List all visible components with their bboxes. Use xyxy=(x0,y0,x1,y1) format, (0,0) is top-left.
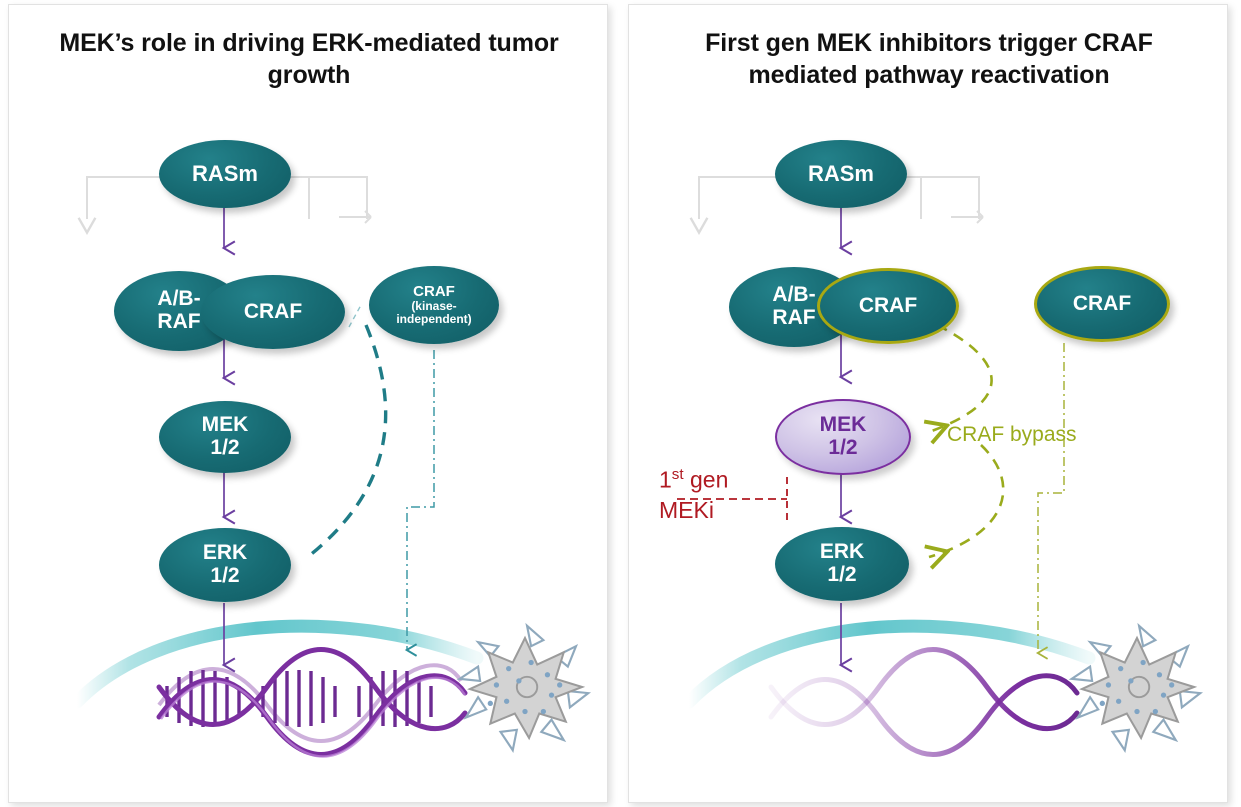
node-erk-left[interactable]: ERK 1/2 xyxy=(159,528,291,602)
dashed-curve-craf-to-erk-right xyxy=(929,445,1003,557)
nuclear-membrane-right xyxy=(689,626,1089,702)
dna-helix-right xyxy=(771,650,1077,755)
node-mek-right[interactable]: MEK 1/2 xyxy=(775,399,911,475)
node-rasm-left[interactable]: RASm xyxy=(159,140,291,208)
dashed-curve-craf-to-mek-right xyxy=(929,325,992,432)
dash-stub-left xyxy=(349,305,361,327)
dashed-curve-craf-to-erk-left xyxy=(309,325,386,556)
tumor-cell-right xyxy=(1072,626,1201,750)
nuclear-membrane-left xyxy=(77,626,477,702)
ras-bracket-left-tip xyxy=(339,211,371,223)
panel-left-canvas xyxy=(9,5,608,803)
tumor-cell-left xyxy=(460,626,589,750)
ras-bracket-right-tip xyxy=(951,211,983,223)
dashdot-craf-to-dna-left xyxy=(407,350,434,650)
dashdot-craf-to-dna-right xyxy=(1038,343,1064,653)
node-mek-left[interactable]: MEK 1/2 xyxy=(159,401,291,473)
panel-right-canvas xyxy=(629,5,1228,803)
node-craf-free-right[interactable]: CRAF xyxy=(1034,266,1170,342)
label-craf-bypass: CRAF bypass xyxy=(947,423,1077,447)
panel-right: First gen MEK inhibitors trigger CRAF me… xyxy=(628,4,1228,803)
node-erk-right[interactable]: ERK 1/2 xyxy=(775,527,909,601)
panel-left: MEK’s role in driving ERK-mediated tumor… xyxy=(8,4,608,803)
label-meki-line1: 1st gen xyxy=(659,465,728,496)
node-craf-dimer-right[interactable]: CRAF xyxy=(817,268,959,344)
figure-root: MEK’s role in driving ERK-mediated tumor… xyxy=(0,0,1241,807)
node-craf-dimer-left[interactable]: CRAF xyxy=(201,275,345,349)
dna-helix-left xyxy=(159,650,465,757)
node-craf-kinase-independent-left[interactable]: CRAF (kinase- independent) xyxy=(369,266,499,344)
node-rasm-right[interactable]: RASm xyxy=(775,140,907,208)
label-first-gen-meki: 1st gen MEKi xyxy=(659,465,728,525)
label-meki-line2: MEKi xyxy=(659,496,728,526)
